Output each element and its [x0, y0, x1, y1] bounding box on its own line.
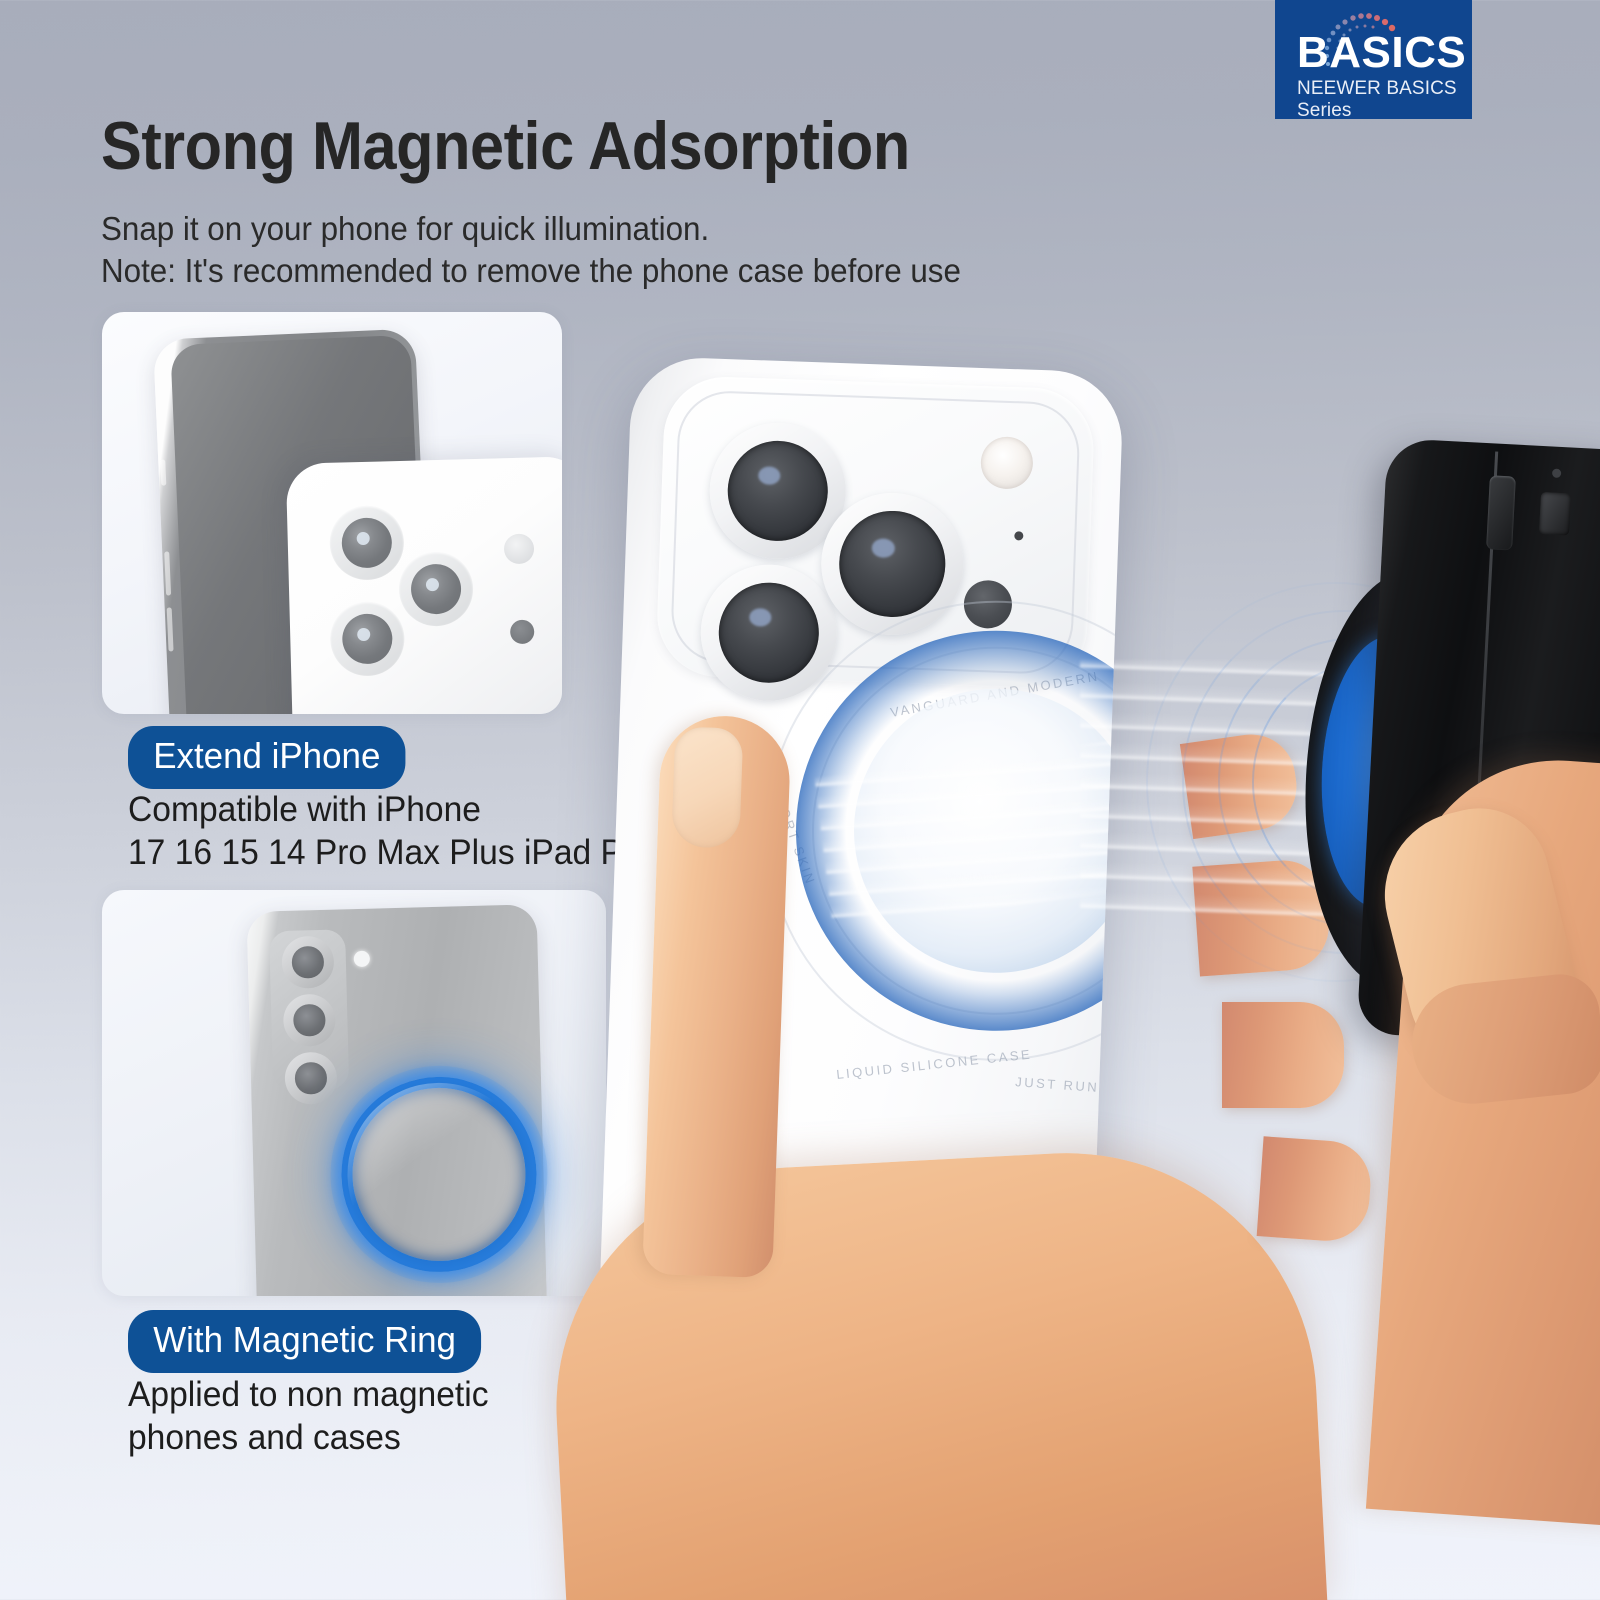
- case-emboss-bottom-mid-text: JUST RUN: [1015, 1074, 1100, 1095]
- feature-card-magnetic-ring: [102, 890, 606, 1296]
- indicator-pin-icon: [1552, 469, 1561, 478]
- white-phone-illustration: [286, 456, 562, 714]
- finger-index: [1180, 729, 1302, 839]
- caption-magnetic-ring: Applied to non magnetic phones and cases: [128, 1374, 489, 1459]
- finger-ring: [1222, 1002, 1344, 1108]
- badge-with-magnetic-ring: With Magnetic Ring: [128, 1310, 481, 1373]
- badge-extend-iphone: Extend iPhone: [128, 726, 406, 789]
- caption-line-1: Applied to non magnetic: [128, 1374, 489, 1417]
- usb-c-port: [1539, 492, 1571, 536]
- brand-logo-badge: BASICS NEEWER BASICS Series: [1275, 0, 1472, 119]
- finger-middle: [1192, 858, 1331, 977]
- camera-lens-icon: [329, 505, 405, 581]
- page-title: Strong Magnetic Adsorption: [101, 112, 1091, 180]
- caption-extend-iphone: Compatible with iPhone 17 16 15 14 Pro M…: [128, 789, 653, 874]
- feature-card-extend-iphone: [102, 312, 562, 714]
- brand-name: BASICS: [1297, 28, 1466, 78]
- subtitle-note-line: Note: It's recommended to remove the pho…: [101, 250, 1241, 292]
- power-button[interactable]: [1486, 475, 1516, 550]
- caption-line-2: phones and cases: [128, 1417, 489, 1460]
- case-emboss-bottom-right-text: FREEDOM OF EXPRESSION: [1102, 1035, 1124, 1112]
- lidar-sensor-icon: [510, 620, 535, 645]
- camera-lens-icon: [284, 1052, 337, 1105]
- caption-line-2: 17 16 15 14 Pro Max Plus iPad Pro: [128, 832, 653, 875]
- android-phone-illustration: [247, 904, 548, 1296]
- subtitle-line-1: Snap it on your phone for quick illumina…: [101, 208, 1241, 250]
- camera-lens-icon: [398, 551, 474, 627]
- flash-icon: [504, 534, 535, 565]
- finger-pinky: [1257, 1136, 1374, 1243]
- thumb: [642, 714, 791, 1278]
- brand-series-label: NEEWER BASICS Series: [1297, 78, 1472, 119]
- camera-lens-icon: [329, 601, 405, 677]
- caption-line-1: Compatible with iPhone: [128, 789, 653, 832]
- magnetic-ring-glow: [339, 1074, 539, 1274]
- flash-icon: [354, 951, 370, 967]
